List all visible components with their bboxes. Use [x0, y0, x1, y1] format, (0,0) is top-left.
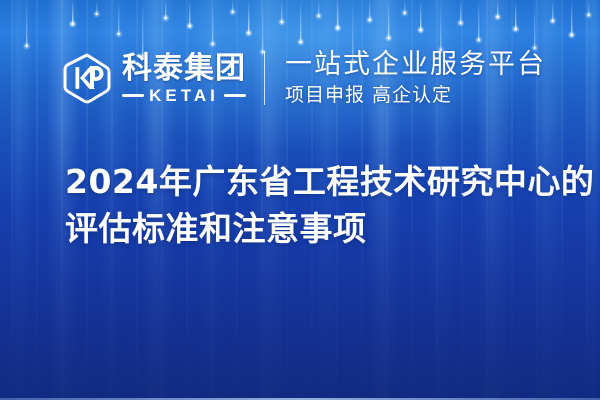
brand-name-cn: 科泰集团: [122, 52, 246, 86]
ketai-kp-monogram-icon: [62, 52, 112, 104]
brand-wordmark: 科泰集团 KETAI: [122, 52, 246, 105]
wordmark-dash-right: [224, 94, 246, 97]
tagline-block: 一站式企业服务平台 项目申报 高企认定: [285, 49, 546, 107]
header-divider: [264, 51, 265, 105]
page-title-line-2: 评估标准和注意事项: [65, 205, 575, 252]
tagline-main: 一站式企业服务平台: [285, 49, 546, 81]
page-title-line-1: 2024年广东省工程技术研究中心的: [65, 158, 575, 205]
wordmark-dash-left: [122, 94, 144, 97]
banner-header: 科泰集团 KETAI 一站式企业服务平台 项目申报 高企认定: [0, 42, 600, 114]
promo-banner: 科泰集团 KETAI 一站式企业服务平台 项目申报 高企认定 2024年广东省工…: [0, 0, 600, 400]
page-title: 2024年广东省工程技术研究中心的 评估标准和注意事项: [65, 158, 575, 252]
brand-logo[interactable]: 科泰集团 KETAI: [62, 52, 246, 105]
tagline-sub: 项目申报 高企认定: [285, 83, 546, 107]
brand-name-en-row: KETAI: [122, 87, 246, 105]
brand-name-en: KETAI: [149, 87, 219, 105]
